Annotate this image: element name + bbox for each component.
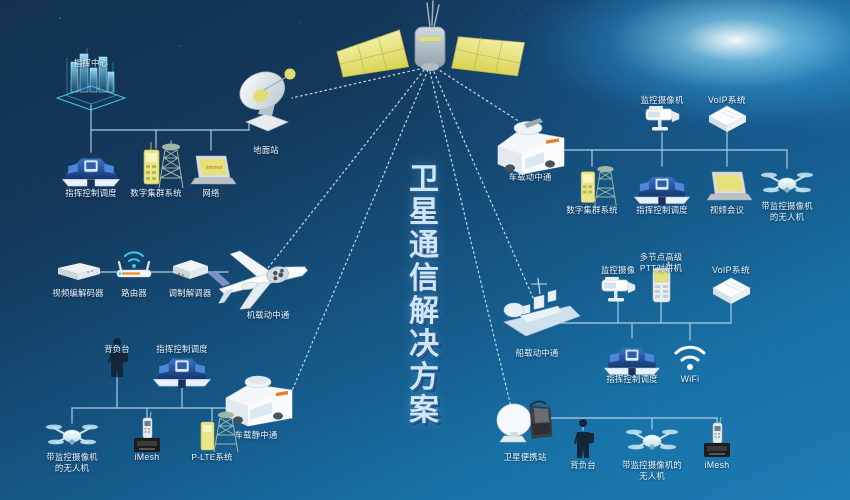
label-trunking-2: 数字集群系统 (566, 205, 617, 216)
vsat-dish-icon (514, 118, 543, 135)
label-drone-3: 带监控摄像机的 无人机 (622, 460, 682, 481)
trunking-radio-tower-icon (144, 140, 183, 188)
command-console-icon (154, 359, 211, 388)
label-command-center: 指挥中心 (74, 58, 108, 69)
wifi-router-icon (117, 252, 151, 277)
command-console-icon (604, 348, 659, 377)
cctv-camera-icon (646, 106, 679, 131)
laptop-video-icon (707, 172, 752, 200)
label-vehicle-sotm: 车载动中通 (509, 172, 552, 183)
warship-icon (504, 278, 580, 336)
title-char: 解 (398, 295, 450, 328)
label-voip-2: VoIP系统 (712, 265, 750, 276)
command-console-icon (634, 177, 689, 206)
title-char: 方 (398, 361, 450, 394)
label-imesh-1: iMesh (135, 452, 160, 463)
label-modem: 调制解调器 (169, 288, 212, 299)
portable-vsat-icon (497, 401, 552, 442)
label-command-dispatch-2: 指挥控制调度 (156, 344, 207, 355)
laptop-internet-icon: internet (191, 156, 236, 184)
page-title: 卫 星 通 信 解 决 方 案 (398, 163, 450, 427)
voip-box-icon (713, 278, 750, 304)
label-ground-station: 地面站 (253, 145, 279, 156)
title-char: 星 (398, 196, 450, 229)
vsat-dish-icon (245, 376, 271, 388)
satcom-solution-diagram: internet (0, 0, 850, 500)
label-vehicle-satcom-stop: 车载静中通 (235, 430, 278, 441)
label-drone-2: 带监控摄像机 的无人机 (761, 201, 812, 222)
modem-icon (173, 260, 208, 279)
voip-box-icon (709, 106, 746, 132)
label-command-dispatch-1: 指挥控制调度 (65, 188, 116, 199)
label-wifi: WiFi (681, 374, 700, 385)
label-imesh-2: iMesh (705, 460, 730, 471)
backpack-operator-icon (574, 419, 594, 458)
satellite-dish-icon (234, 65, 295, 131)
label-video-codec: 视频编解码器 (52, 288, 103, 299)
command-console-icon (63, 159, 120, 188)
label-backpack-1: 背负台 (104, 344, 130, 355)
title-char: 决 (398, 328, 450, 361)
label-voip-1: VoIP系统 (708, 95, 746, 106)
airplane-icon (205, 238, 313, 315)
label-trunking-1: 数字集群系统 (130, 188, 181, 199)
van-icon (226, 376, 292, 426)
label-portable-station: 卫星便携站 (504, 452, 547, 463)
trunking-radio-tower-icon (581, 166, 616, 206)
label-backpack-2: 背负台 (570, 460, 596, 471)
label-network: 网络 (202, 188, 219, 199)
label-cctv-1: 监控摄像机 (641, 95, 684, 106)
video-codec-icon (58, 263, 100, 280)
drone-camera-icon (626, 430, 678, 450)
label-cctv-2: 监控摄像 (601, 265, 635, 276)
label-airborne-sotm: 机载动中通 (247, 310, 290, 321)
satellite-icon (335, 1, 524, 83)
label-router: 路由器 (121, 288, 147, 299)
imesh-radio-icon (704, 417, 730, 457)
title-char: 案 (398, 394, 450, 427)
imesh-radio-icon (134, 412, 160, 452)
label-plte: P-LTE系统 (191, 452, 232, 463)
label-ptt: 多节点高级 PTT对讲机 (640, 252, 683, 273)
drone-camera-icon (46, 425, 98, 445)
drone-camera-icon (761, 173, 813, 193)
label-video-conference: 视频会议 (710, 205, 744, 216)
wifi-signal-icon (676, 347, 704, 370)
svg-text:internet: internet (206, 165, 223, 171)
title-char: 信 (398, 262, 450, 295)
label-ship-sotm: 船载动中通 (516, 348, 559, 359)
label-command-dispatch-4: 指挥控制调度 (606, 374, 657, 385)
cctv-camera-icon (602, 277, 635, 302)
label-drone-1: 带监控摄像机 的无人机 (46, 452, 97, 473)
armored-van-icon (498, 118, 564, 174)
title-char: 卫 (398, 163, 450, 196)
title-char: 通 (398, 229, 450, 262)
label-command-dispatch-3: 指挥控制调度 (636, 205, 687, 216)
